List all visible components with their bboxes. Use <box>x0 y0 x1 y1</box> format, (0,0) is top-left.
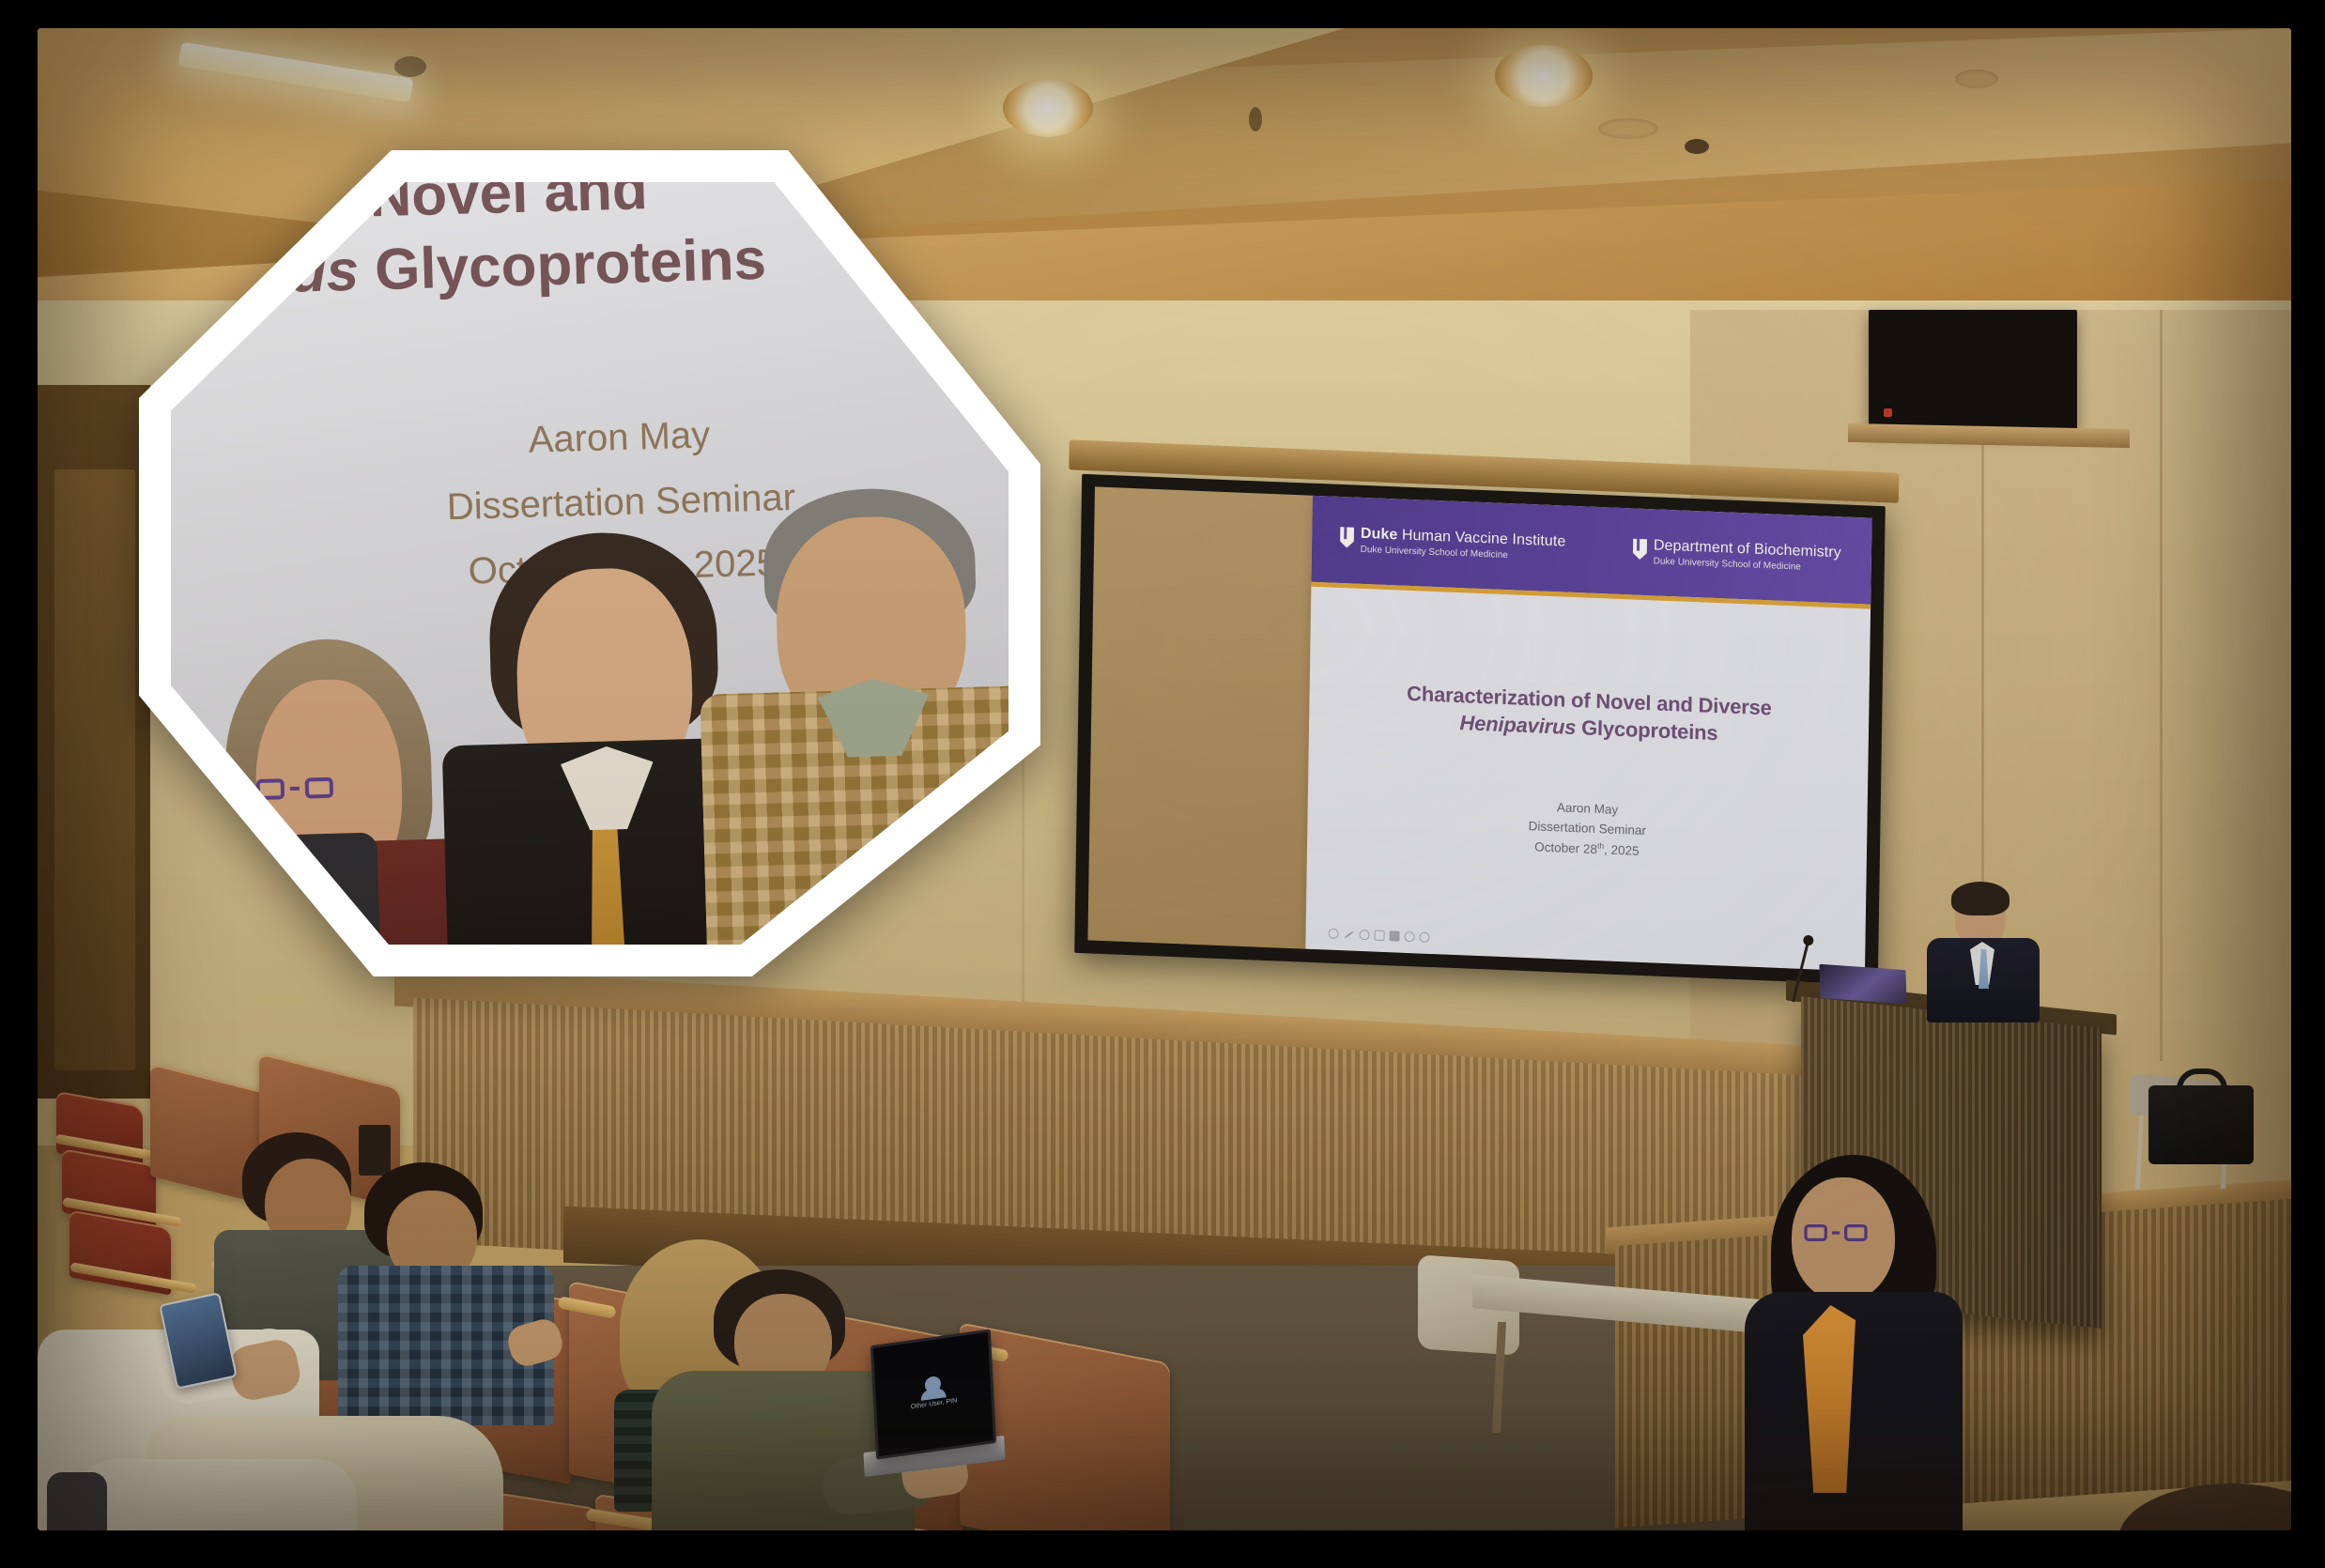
all-slides-icon[interactable] <box>1374 930 1384 941</box>
projection-screen: Duke Human Vaccine Institute Duke Univer… <box>1074 474 1886 985</box>
purple-eyeglasses-icon <box>255 777 333 800</box>
laptop-bag <box>2148 1085 2254 1164</box>
ceiling-fixture <box>1249 107 1262 131</box>
prev-slide-icon[interactable] <box>1328 929 1338 939</box>
backpack-strap <box>47 1472 107 1530</box>
audience-member-foreground-right <box>2118 1483 2291 1530</box>
slide-subtitle-block: Aaron May Dissertation Seminar October 2… <box>1528 796 1646 863</box>
projected-slide: Duke Human Vaccine Institute Duke Univer… <box>1305 496 1871 972</box>
pen-icon[interactable] <box>1344 930 1354 939</box>
backpack <box>75 1459 357 1530</box>
ceiling-vent <box>1598 118 1658 139</box>
photograph: Duke Human Vaccine Institute Duke Univer… <box>38 28 2291 1530</box>
inset-title-line-2: Glycoproteins <box>358 227 767 303</box>
audience-member-plaid-shirt <box>338 1162 554 1416</box>
podium-laptop <box>1819 964 1906 1005</box>
hair <box>1951 882 2009 915</box>
eyeglasses-icon <box>1804 1224 1867 1241</box>
black-screen-icon[interactable] <box>1389 931 1399 942</box>
brand-department-of-biochemistry: Department of Biochemistry Duke Universi… <box>1633 537 1841 575</box>
duke-shield-icon <box>1633 539 1647 561</box>
downlight-icon <box>1495 45 1593 107</box>
hair <box>2118 1483 2291 1530</box>
magnifier-icon[interactable] <box>1359 930 1369 940</box>
photo-frame: Duke Human Vaccine Institute Duke Univer… <box>0 0 2325 1568</box>
woman-in-black-blazer-orange-blouse <box>1733 1155 1978 1530</box>
wall-mounted-display <box>1869 310 2077 430</box>
brand-duke-human-vaccine-institute: Duke Human Vaccine Institute Duke Univer… <box>1340 525 1566 563</box>
slide-title-italic-genus: Henipavirus <box>1459 712 1576 740</box>
slide-body: Characterization of Novel and Diverse He… <box>1305 586 1871 971</box>
man-in-dark-suit-blue-tie <box>1927 887 2040 1019</box>
ceiling-fixture <box>394 56 426 77</box>
brand-bold-word: Duke <box>1361 526 1398 544</box>
hexagon-inset-callout: ization of Novel and nipavirus Glycoprot… <box>139 150 1040 976</box>
screen-surface: Duke Human Vaccine Institute Duke Univer… <box>1087 486 1871 971</box>
slide-title-line-2: Glycoproteins <box>1576 716 1718 746</box>
ceiling-vent <box>1955 69 1998 88</box>
slide-title: Characterization of Novel and Diverse He… <box>1406 680 1771 750</box>
audience-laptop[interactable]: Other User, PIN <box>870 1329 996 1459</box>
duke-shield-icon <box>1340 527 1354 548</box>
powerpoint-presenter-toolbar[interactable] <box>1328 929 1429 943</box>
next-slide-icon[interactable] <box>1419 932 1429 943</box>
side-door <box>54 469 135 1070</box>
laptop-login-label: Other User, PIN <box>911 1397 958 1410</box>
audience-member-white-backpack <box>47 1459 357 1530</box>
wall-seam <box>2160 310 2163 1061</box>
downlight-icon <box>1003 79 1093 137</box>
ceiling-fixture <box>1685 139 1709 154</box>
more-options-icon[interactable] <box>1404 931 1414 942</box>
slide-date: October 28th, 2025 <box>1528 837 1646 862</box>
user-avatar-icon <box>925 1376 942 1393</box>
